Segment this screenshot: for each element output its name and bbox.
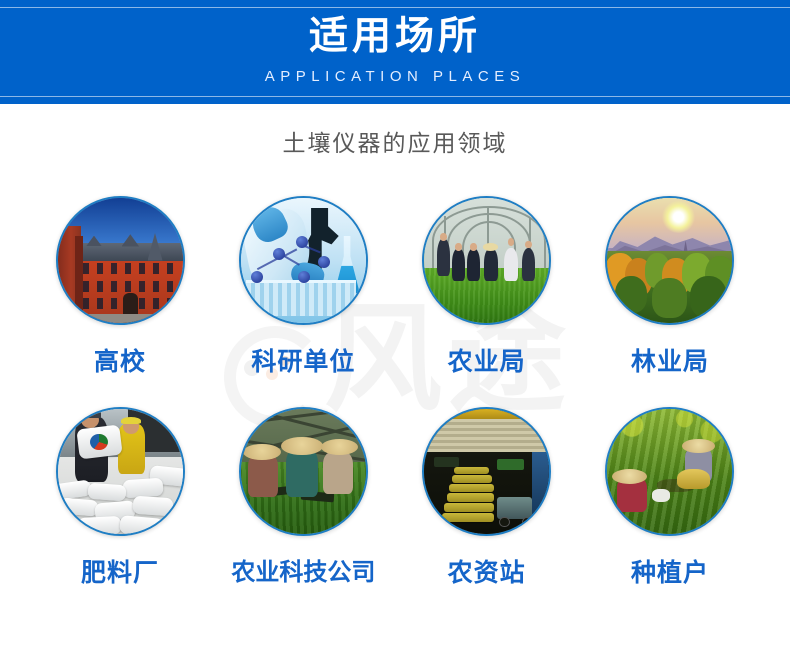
place-label: 种植户 (585, 558, 755, 588)
places-row-2: 肥料厂 农业科技公司 (35, 407, 755, 588)
place-thumbnail-planting-household[interactable] (605, 407, 734, 536)
application-places-page: 适用场所 APPLICATION PLACES 土壤仪器的应用领域 风途 (0, 0, 790, 664)
places-grid: 高校 科研单位 (0, 196, 790, 588)
section-subtitle: 土壤仪器的应用领域 (0, 126, 790, 160)
place-label: 高校 (35, 347, 205, 377)
places-row-1: 高校 科研单位 (35, 196, 755, 377)
crop-field-harvest-photo (607, 409, 732, 534)
banner-bottom-divider (0, 96, 790, 97)
place-card-agriculture-bureau[interactable]: 农业局 (402, 196, 572, 377)
place-card-agritech-company[interactable]: 农业科技公司 (218, 407, 388, 588)
place-card-agri-supply-station[interactable]: 农资站 (402, 407, 572, 588)
place-thumbnail-agriculture-bureau[interactable] (422, 196, 551, 325)
place-card-research-institute[interactable]: 科研单位 (218, 196, 388, 377)
place-label: 农业局 (402, 347, 572, 377)
banner-title: 适用场所 (0, 11, 790, 63)
place-thumbnail-university[interactable] (56, 196, 185, 325)
autumn-forest-sunrise-photo (607, 198, 732, 323)
place-card-university[interactable]: 高校 (35, 196, 205, 377)
university-building-photo (58, 198, 183, 323)
page-banner: 适用场所 APPLICATION PLACES (0, 0, 790, 104)
place-thumbnail-fertilizer-plant[interactable] (56, 407, 185, 536)
place-card-forestry-bureau[interactable]: 林业局 (585, 196, 755, 377)
fertilizer-bags-workers-photo (58, 409, 183, 534)
banner-subtitle: APPLICATION PLACES (0, 66, 790, 88)
place-label: 林业局 (585, 347, 755, 377)
place-thumbnail-research-institute[interactable] (239, 196, 368, 325)
seedling-greenhouse-workers-photo (241, 409, 366, 534)
agri-supply-shop-photo (424, 409, 549, 534)
place-card-planting-household[interactable]: 种植户 (585, 407, 755, 588)
greenhouse-inspection-photo (424, 198, 549, 323)
place-label: 科研单位 (218, 347, 388, 377)
place-thumbnail-agritech-company[interactable] (239, 407, 368, 536)
place-thumbnail-forestry-bureau[interactable] (605, 196, 734, 325)
place-label: 肥料厂 (35, 558, 205, 588)
banner-top-divider (0, 7, 790, 8)
place-thumbnail-agri-supply-station[interactable] (422, 407, 551, 536)
laboratory-microscope-photo (241, 198, 366, 323)
place-label: 农业科技公司 (218, 558, 388, 588)
place-card-fertilizer-plant[interactable]: 肥料厂 (35, 407, 205, 588)
place-label: 农资站 (402, 558, 572, 588)
